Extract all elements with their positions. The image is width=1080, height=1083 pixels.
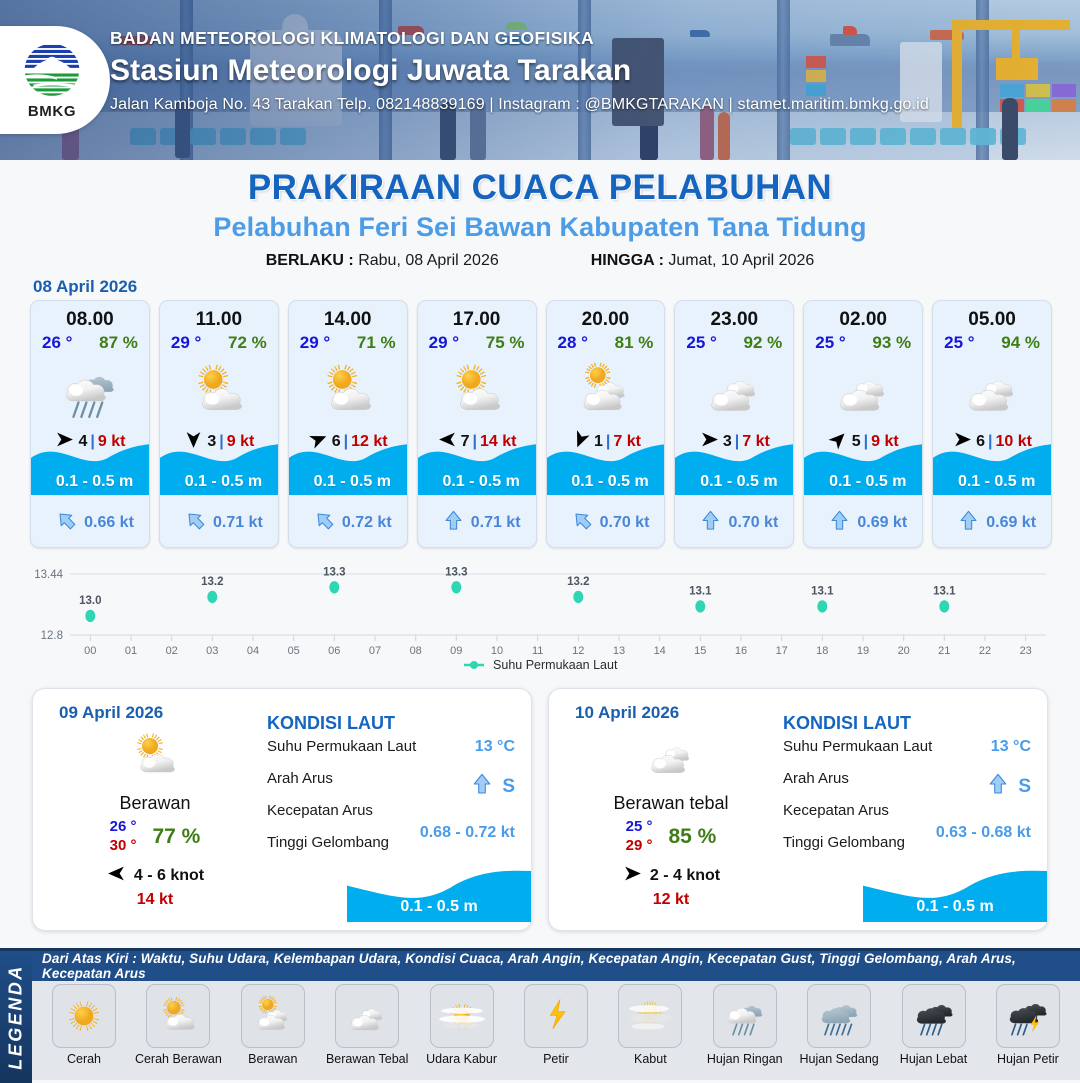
legend-item-label: Hujan Ringan [701, 1052, 789, 1066]
legend-item: Udara Kabur [418, 984, 506, 1066]
panel-row-current-speed: Kecepatan Arus 0.68 - 0.72 kt [267, 802, 519, 834]
hourly-card[interactable]: 23.00 25 ° 92 % 3 | [674, 300, 794, 548]
card-humidity: 75 % [486, 333, 525, 353]
card-temp-humidity: 28 ° 81 % [547, 331, 665, 353]
card-time: 20.00 [547, 309, 665, 331]
card-current-row: 0.69 kt [933, 509, 1052, 537]
legend-udara-kabur-icon [430, 984, 494, 1048]
panel-row-current-direction: Arah Arus S [267, 770, 519, 802]
svg-text:14: 14 [654, 645, 666, 657]
hourly-forecast-row: 08.00 26 ° 87 % 4 | 9 [30, 300, 1052, 548]
svg-text:07: 07 [369, 645, 381, 657]
current-direction-arrow-icon [442, 509, 465, 537]
card-wave-height: 0.1 - 0.5 m [675, 473, 794, 491]
svg-text:13.1: 13.1 [933, 585, 956, 597]
panel-row-label: Tinggi Gelombang [267, 834, 389, 851]
sst-legend-label: Suhu Permukaan Laut [493, 658, 617, 672]
panel-temp-range: 25 ° 29 ° [626, 818, 653, 856]
panel-weather-cerah-berawan-icon [47, 725, 263, 787]
card-weather-berawan-tebal-icon [804, 355, 922, 427]
card-current-speed: 0.70 kt [600, 514, 650, 532]
panel-row-label: Kecepatan Arus [267, 802, 373, 819]
legend-item-label: Kabut [606, 1052, 694, 1066]
panel-row-sst: Suhu Permukaan Laut 13 °C [783, 738, 1035, 770]
hourly-card[interactable]: 14.00 29 ° 71 % 6 | 12 kt [288, 300, 408, 548]
svg-text:13.3: 13.3 [445, 566, 467, 578]
svg-text:13.2: 13.2 [201, 576, 223, 588]
panel-temp-max: 29 ° [626, 837, 653, 856]
sst-chart-legend: Suhu Permukaan Laut [0, 658, 1080, 673]
card-temp-humidity: 29 ° 72 % [160, 331, 278, 353]
panel-current-arrow-icon [470, 772, 494, 802]
panel-current-direction-value: S [1018, 776, 1031, 798]
card-temp-humidity: 29 ° 75 % [418, 331, 536, 353]
svg-text:11: 11 [532, 645, 543, 657]
current-direction-arrow-icon [184, 509, 207, 537]
card-weather-berawan-icon [547, 355, 665, 427]
panel-temp-min: 25 ° [626, 818, 653, 837]
sst-legend-marker-icon [463, 659, 485, 673]
svg-text:20: 20 [898, 645, 910, 657]
card-temp-humidity: 26 ° 87 % [31, 331, 149, 353]
panel-gust: 14 kt [47, 891, 263, 909]
panel-temp-min: 26 ° [110, 818, 137, 837]
legend-item-label: Hujan Lebat [890, 1052, 978, 1066]
svg-text:01: 01 [125, 645, 137, 657]
card-wave-height: 0.1 - 0.5 m [418, 473, 537, 491]
panel-wind-range: 4 - 6 knot [134, 867, 204, 885]
legend-hujan-ringan-icon [713, 984, 777, 1048]
svg-text:06: 06 [328, 645, 340, 657]
panel-sea-title: KONDISI LAUT [783, 713, 1035, 734]
hourly-card[interactable]: 20.00 28 ° 81 % 1 | [546, 300, 666, 548]
card-weather-berawan-tebal-icon [675, 355, 793, 427]
legend-petir-icon [524, 984, 588, 1048]
hourly-card[interactable]: 05.00 25 ° 94 % 6 | [932, 300, 1052, 548]
panel-row-label: Suhu Permukaan Laut [267, 738, 416, 755]
card-temp-humidity: 25 ° 92 % [675, 331, 793, 353]
svg-text:13.44: 13.44 [34, 569, 63, 581]
panel-current-arrow-icon [986, 772, 1010, 802]
svg-text:16: 16 [735, 645, 747, 657]
page-header: BMKG BADAN METEOROLOGI KLIMATOLOGI DAN G… [0, 0, 1080, 160]
legend-item-label: Cerah [40, 1052, 128, 1066]
card-current-row: 0.70 kt [547, 509, 666, 537]
panel-row-current-direction: Arah Arus S [783, 770, 1035, 802]
agency-name: BADAN METEOROLOGI KLIMATOLOGI DAN GEOFIS… [110, 28, 1060, 49]
card-current-row: 0.71 kt [160, 509, 279, 537]
legend-berawan-tebal-icon [335, 984, 399, 1048]
card-current-speed: 0.71 kt [213, 514, 263, 532]
svg-text:15: 15 [694, 645, 706, 657]
svg-text:21: 21 [938, 645, 950, 657]
contact-line: Jalan Kamboja No. 43 Tarakan Telp. 08214… [110, 96, 1060, 114]
svg-text:13.1: 13.1 [689, 585, 712, 597]
card-time: 02.00 [804, 309, 922, 331]
card-current-speed: 0.71 kt [471, 514, 521, 532]
legend-item-label: Hujan Petir [984, 1052, 1072, 1066]
panel-humidity: 77 % [152, 825, 200, 849]
legend-item-label: Udara Kabur [418, 1052, 506, 1066]
current-direction-arrow-icon [55, 509, 78, 537]
legend-item-label: Berawan [229, 1052, 317, 1066]
panel-wind-range: 2 - 4 knot [650, 867, 720, 885]
panel-row-wave: Tinggi Gelombang [783, 834, 1035, 866]
panel-condition: Berawan tebal [563, 793, 779, 814]
svg-text:13.1: 13.1 [811, 585, 834, 597]
hourly-card[interactable]: 17.00 29 ° 75 % 7 | 14 kt [417, 300, 537, 548]
card-time: 05.00 [933, 309, 1051, 331]
card-humidity: 94 % [1001, 333, 1040, 353]
legend-item: Berawan Tebal [323, 984, 411, 1066]
bmkg-logo-text: BMKG [21, 103, 83, 120]
svg-text:08: 08 [410, 645, 422, 657]
panel-wind-direction-arrow-icon [622, 863, 643, 889]
panel-temp-humidity: 25 ° 29 ° 85 % [563, 818, 779, 856]
svg-text:23: 23 [1020, 645, 1032, 657]
legend-item: Kabut [606, 984, 694, 1066]
card-weather-cerah-berawan-icon [160, 355, 278, 427]
title-block: PRAKIRAAN CUACA PELABUHAN Pelabuhan Feri… [0, 168, 1080, 270]
legend-item: Hujan Petir [984, 984, 1072, 1066]
valid-to: HINGGA : Jumat, 10 April 2026 [591, 252, 815, 270]
panel-row-label: Suhu Permukaan Laut [783, 738, 932, 755]
panel-wave-height: 0.1 - 0.5 m [863, 898, 1047, 916]
current-direction-arrow-icon [828, 509, 851, 537]
panel-sea-conditions: KONDISI LAUT Suhu Permukaan Laut 13 °C A… [783, 713, 1035, 866]
card-time: 17.00 [418, 309, 536, 331]
panel-temp-max: 30 ° [110, 837, 137, 856]
card-current-speed: 0.69 kt [857, 514, 907, 532]
legend-item-label: Berawan Tebal [323, 1052, 411, 1066]
card-wave-height: 0.1 - 0.5 m [160, 473, 279, 491]
legend-note: Dari Atas Kiri : Waktu, Suhu Udara, Kele… [32, 951, 1080, 981]
card-humidity: 81 % [615, 333, 654, 353]
card-weather-cerah-berawan-icon [418, 355, 536, 427]
hourly-card[interactable]: 08.00 26 ° 87 % 4 | 9 [30, 300, 150, 548]
svg-text:12: 12 [572, 645, 584, 657]
card-humidity: 72 % [228, 333, 267, 353]
legend-tab-label: LEGENDA [6, 964, 27, 1070]
legend-item-label: Hujan Sedang [795, 1052, 883, 1066]
card-current-row: 0.70 kt [675, 509, 794, 537]
card-wave-height: 0.1 - 0.5 m [933, 473, 1052, 491]
legend-kabut-icon [618, 984, 682, 1048]
card-current-row: 0.69 kt [804, 509, 923, 537]
card-humidity: 92 % [744, 333, 783, 353]
card-weather-cerah-berawan-icon [289, 355, 407, 427]
svg-text:13: 13 [613, 645, 625, 657]
svg-text:05: 05 [288, 645, 300, 657]
panel-weather-berawan-tebal-icon [563, 725, 779, 787]
panel-summary: Berawan tebal 25 ° 29 ° 85 % 2 - 4 knot … [563, 725, 779, 909]
svg-text:09: 09 [450, 645, 462, 657]
legend-section: LEGENDA Dari Atas Kiri : Waktu, Suhu Uda… [0, 948, 1080, 1080]
svg-text:12.8: 12.8 [41, 630, 63, 642]
panel-row-label: Tinggi Gelombang [783, 834, 905, 851]
card-weather-berawan-tebal-icon [933, 355, 1051, 427]
page-title: PRAKIRAAN CUACA PELABUHAN [0, 168, 1080, 208]
panel-summary: Berawan 26 ° 30 ° 77 % 4 - 6 knot 14 kt [47, 725, 263, 909]
valid-to-label: HINGGA : [591, 252, 664, 269]
panel-condition: Berawan [47, 793, 263, 814]
panel-wind-row: 4 - 6 knot [47, 863, 263, 889]
card-temperature: 29 ° [300, 333, 330, 353]
card-humidity: 87 % [99, 333, 138, 353]
bmkg-logo-icon [21, 40, 83, 102]
card-temp-humidity: 29 ° 71 % [289, 331, 407, 353]
svg-text:18: 18 [816, 645, 828, 657]
svg-text:22: 22 [979, 645, 991, 657]
panel-row-wave: Tinggi Gelombang [267, 834, 519, 866]
valid-from-label: BERLAKU : [266, 252, 354, 269]
panel-row-current-speed: Kecepatan Arus 0.63 - 0.68 kt [783, 802, 1035, 834]
panel-temp-humidity: 26 ° 30 ° 77 % [47, 818, 263, 856]
card-time: 08.00 [31, 309, 149, 331]
legend-item: Hujan Lebat [890, 984, 978, 1066]
card-humidity: 71 % [357, 333, 396, 353]
svg-text:02: 02 [166, 645, 178, 657]
card-current-row: 0.71 kt [418, 509, 537, 537]
panel-date: 10 April 2026 [575, 703, 679, 723]
panel-row-label: Kecepatan Arus [783, 802, 889, 819]
header-text-block: BADAN METEOROLOGI KLIMATOLOGI DAN GEOFIS… [110, 28, 1060, 114]
panel-current-direction: S [470, 772, 515, 802]
card-temperature: 26 ° [42, 333, 72, 353]
svg-text:13.2: 13.2 [567, 576, 589, 588]
card-wave-height: 0.1 - 0.5 m [547, 473, 666, 491]
card-time: 23.00 [675, 309, 793, 331]
legend-hujan-petir-icon [996, 984, 1060, 1048]
panel-row-label: Arah Arus [267, 770, 333, 787]
hourly-card[interactable]: 11.00 29 ° 72 % 3 | 9 kt [159, 300, 279, 548]
page-subtitle: Pelabuhan Feri Sei Bawan Kabupaten Tana … [0, 212, 1080, 243]
legend-item: Petir [512, 984, 600, 1066]
legend-item: Berawan [229, 984, 317, 1066]
svg-text:10: 10 [491, 645, 503, 657]
card-wave-height: 0.1 - 0.5 m [804, 473, 923, 491]
validity-row: BERLAKU : Rabu, 08 April 2026 HINGGA : J… [0, 252, 1080, 270]
hourly-card[interactable]: 02.00 25 ° 93 % 5 | [803, 300, 923, 548]
card-temperature: 25 ° [944, 333, 974, 353]
legend-hujan-lebat-icon [902, 984, 966, 1048]
valid-from-value: Rabu, 08 April 2026 [358, 252, 499, 269]
panel-current-direction-value: S [502, 776, 515, 798]
legend-items-row: Cerah Cerah Berawan [32, 984, 1080, 1066]
panel-temp-range: 26 ° 30 ° [110, 818, 137, 856]
legend-tab: LEGENDA [0, 951, 32, 1083]
legend-berawan-icon [241, 984, 305, 1048]
svg-text:03: 03 [206, 645, 218, 657]
hourly-day-label: 08 April 2026 [33, 277, 137, 297]
svg-text:17: 17 [776, 645, 788, 657]
card-wave-height: 0.1 - 0.5 m [289, 473, 408, 491]
card-weather-hujan-ringan-icon [31, 355, 149, 427]
panel-row-sst: Suhu Permukaan Laut 13 °C [267, 738, 519, 770]
panel-row-label: Arah Arus [783, 770, 849, 787]
card-temperature: 29 ° [429, 333, 459, 353]
card-current-speed: 0.69 kt [986, 514, 1036, 532]
card-temperature: 25 ° [686, 333, 716, 353]
current-direction-arrow-icon [957, 509, 980, 537]
legend-item: Hujan Ringan [701, 984, 789, 1066]
card-current-speed: 0.70 kt [728, 514, 778, 532]
legend-item: Cerah [40, 984, 128, 1066]
card-time: 11.00 [160, 309, 278, 331]
svg-text:00: 00 [84, 645, 96, 657]
panel-sea-title: KONDISI LAUT [267, 713, 519, 734]
daily-forecast-panel[interactable]: 09 April 2026 Berawan 26 ° 30 ° 77 % [32, 688, 532, 931]
valid-from: BERLAKU : Rabu, 08 April 2026 [266, 252, 499, 270]
panel-sst-value: 13 °C [475, 738, 515, 756]
station-name: Stasiun Meteorologi Juwata Tarakan [110, 54, 1060, 88]
card-temp-humidity: 25 ° 94 % [933, 331, 1051, 353]
legend-item: Hujan Sedang [795, 984, 883, 1066]
legend-item: Cerah Berawan [134, 984, 222, 1066]
svg-text:13.0: 13.0 [79, 595, 101, 607]
card-temperature: 25 ° [815, 333, 845, 353]
bmkg-logo-plate: BMKG [0, 26, 110, 134]
legend-cerah-icon [52, 984, 116, 1048]
panel-gust: 12 kt [563, 891, 779, 909]
panel-wind-direction-arrow-icon [106, 863, 127, 889]
panel-humidity: 85 % [668, 825, 716, 849]
svg-text:13.3: 13.3 [323, 566, 345, 578]
card-humidity: 93 % [872, 333, 911, 353]
valid-to-value: Jumat, 10 April 2026 [668, 252, 814, 269]
panel-current-direction: S [986, 772, 1031, 802]
current-direction-arrow-icon [699, 509, 722, 537]
legend-item-label: Petir [512, 1052, 600, 1066]
panel-wind-row: 2 - 4 knot [563, 863, 779, 889]
card-current-speed: 0.66 kt [84, 514, 134, 532]
daily-forecast-panel[interactable]: 10 April 2026 Berawan tebal 25 ° 2 [548, 688, 1048, 931]
card-temperature: 29 ° [171, 333, 201, 353]
card-temp-humidity: 25 ° 93 % [804, 331, 922, 353]
card-time: 14.00 [289, 309, 407, 331]
current-direction-arrow-icon [571, 509, 594, 537]
card-current-speed: 0.72 kt [342, 514, 392, 532]
svg-text:19: 19 [857, 645, 869, 657]
legend-hujan-sedang-icon [807, 984, 871, 1048]
card-current-row: 0.66 kt [31, 509, 150, 537]
card-wave-height: 0.1 - 0.5 m [31, 473, 150, 491]
panel-date: 09 April 2026 [59, 703, 163, 723]
panel-sst-value: 13 °C [991, 738, 1031, 756]
daily-forecast-panels: 09 April 2026 Berawan 26 ° 30 ° 77 % [32, 688, 1048, 931]
legend-item-label: Cerah Berawan [134, 1052, 222, 1066]
panel-sea-conditions: KONDISI LAUT Suhu Permukaan Laut 13 °C A… [267, 713, 519, 866]
legend-cerah-berawan-icon [146, 984, 210, 1048]
card-temperature: 28 ° [558, 333, 588, 353]
current-direction-arrow-icon [313, 509, 336, 537]
card-current-row: 0.72 kt [289, 509, 408, 537]
svg-text:04: 04 [247, 645, 259, 657]
panel-wave-height: 0.1 - 0.5 m [347, 898, 531, 916]
